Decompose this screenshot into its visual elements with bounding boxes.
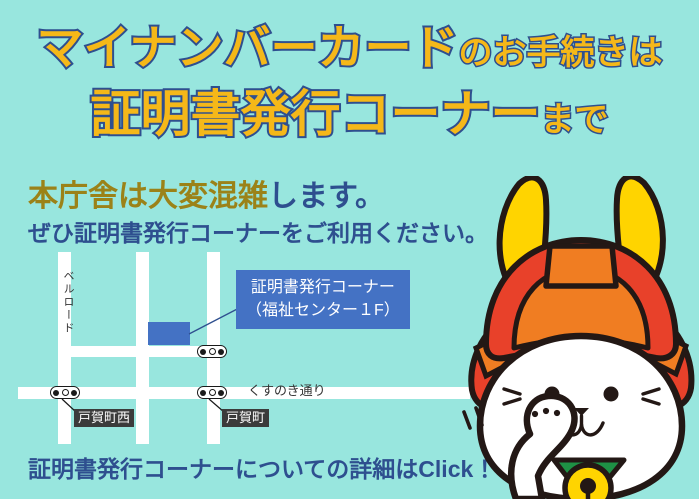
headline-line-2-main: 証明書発行コーナー: [91, 86, 541, 142]
hikonyan-cat-mascot: [446, 176, 699, 499]
headline-line-2: 証明書発行コーナーまで: [0, 85, 699, 149]
headline-line-1-suffix: のお手続きは: [459, 34, 663, 72]
poster-root: マイナンバーカードのお手続きは 証明書発行コーナーまで 本庁舎は大変混雑します。…: [0, 0, 699, 499]
subhead-line-1: 本庁舎は大変混雑します。: [28, 180, 385, 214]
headline-line-1: マイナンバーカードのお手続きは: [0, 20, 699, 81]
map-place-tag-togamachi: 戸賀町: [222, 409, 269, 427]
subhead-line-2: ぜひ証明書発行コーナーをご利用ください。: [28, 220, 488, 247]
location-map: 証明書発行コーナー （福祉センター１F） ベルロード くすのき通り: [0, 252, 470, 444]
footer-click-text[interactable]: 証明書発行コーナーについての詳細はClick！: [28, 455, 496, 483]
map-place-tag-togamachi-nishi: 戸賀町西: [74, 409, 134, 427]
headline-line-1-main: マイナンバーカード: [36, 21, 458, 74]
headline-line-2-suffix: まで: [541, 101, 609, 139]
mascot-eye-right: [604, 387, 619, 402]
subhead-line-1-emphasis: 本庁舎は大変混雑: [28, 180, 268, 213]
subhead-line-1-tail: します。: [268, 180, 385, 213]
